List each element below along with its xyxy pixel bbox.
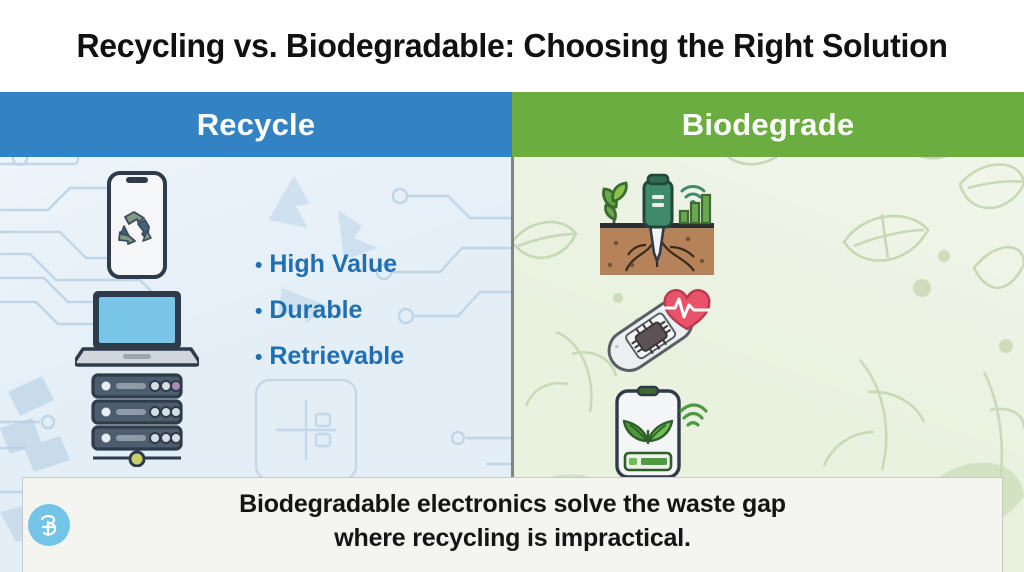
server-rack-icon: [85, 371, 189, 467]
bullet-label: Durable: [269, 296, 362, 324]
bullet-dot-icon: •: [255, 254, 262, 277]
column-header-biodegrade: Biodegrade: [512, 92, 1024, 157]
list-item: •High Value: [255, 242, 404, 288]
smart-bandage-icon: [603, 285, 711, 377]
title-bar: Recycling vs. Biodegradable: Choosing th…: [0, 0, 1024, 92]
caption-line-2: where recycling is impractical.: [239, 521, 786, 555]
bullet-dot-icon: •: [255, 300, 262, 323]
caption-text: Biodegradable electronics solve the wast…: [239, 487, 786, 555]
caption-line-1: Biodegradable electronics solve the wast…: [239, 490, 786, 518]
recycle-bullet-list: •High Value •Durable •Retrievable: [255, 242, 404, 380]
soil-sensor-icon: [596, 169, 718, 281]
list-item: •Retrievable: [255, 334, 404, 380]
brand-logo-icon: [28, 504, 70, 546]
page-title: Recycling vs. Biodegradable: Choosing th…: [76, 27, 947, 65]
laptop-icon: [75, 285, 199, 367]
bullet-label: High Value: [269, 250, 397, 278]
infographic-root: Recycling vs. Biodegradable: Choosing th…: [0, 0, 1024, 572]
smartphone-recycle-icon: [93, 169, 181, 281]
list-item: •Durable: [255, 288, 404, 334]
caption-box: Biodegradable electronics solve the wast…: [22, 477, 1003, 572]
bullet-label: Retrievable: [269, 342, 404, 370]
bullet-dot-icon: •: [255, 346, 262, 369]
column-header-label: Biodegrade: [682, 107, 855, 143]
eco-smartphone-icon: [605, 381, 709, 481]
column-header-label: Recycle: [197, 107, 316, 143]
column-header-recycle: Recycle: [0, 92, 512, 157]
